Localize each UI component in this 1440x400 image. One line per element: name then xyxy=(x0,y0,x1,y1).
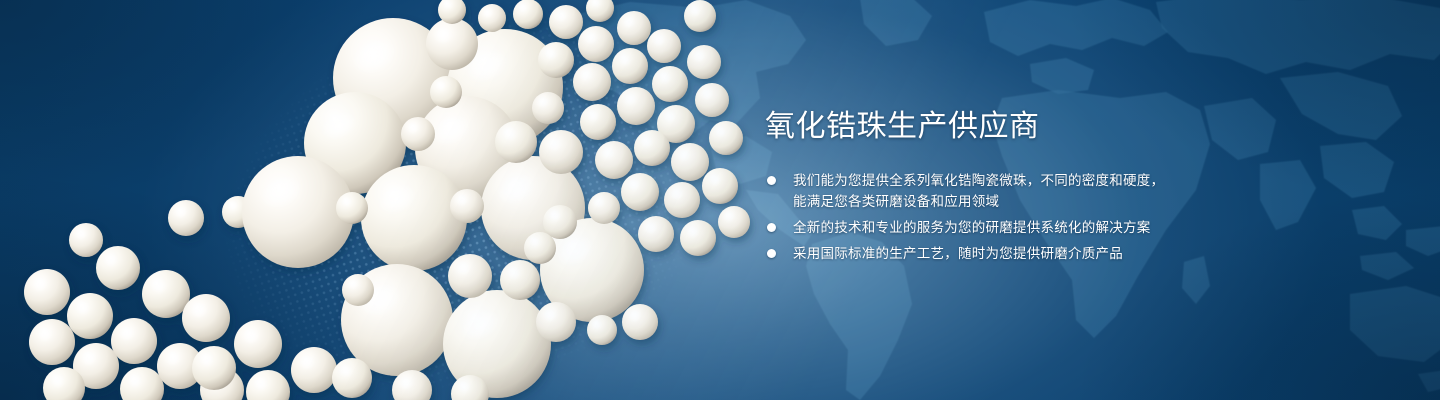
list-item: 我们能为您提供全系列氧化锆陶瓷微珠，不同的密度和硬度， 能满足您各类研磨设备和应… xyxy=(765,170,1325,212)
bullet-dot-icon xyxy=(767,223,776,232)
bullet-text-line1: 我们能为您提供全系列氧化锆陶瓷微珠，不同的密度和硬度， xyxy=(793,170,1325,191)
banner-copy: 氧化锆珠生产供应商 我们能为您提供全系列氧化锆陶瓷微珠，不同的密度和硬度， 能满… xyxy=(765,0,1325,400)
bullet-text-line1: 全新的技术和专业的服务为您的研磨提供系统化的解决方案 xyxy=(793,217,1325,238)
hero-banner: 氧化锆珠生产供应商 我们能为您提供全系列氧化锆陶瓷微珠，不同的密度和硬度， 能满… xyxy=(0,0,1440,400)
list-item: 采用国际标准的生产工艺，随时为您提供研磨介质产品 xyxy=(765,243,1325,264)
bullet-text-line1: 采用国际标准的生产工艺，随时为您提供研磨介质产品 xyxy=(793,243,1325,264)
zirconia-beads-product-image xyxy=(0,0,760,400)
list-item: 全新的技术和专业的服务为您的研磨提供系统化的解决方案 xyxy=(765,217,1325,238)
bullet-text-line2: 能满足您各类研磨设备和应用领域 xyxy=(793,191,1325,212)
bullet-dot-icon xyxy=(767,176,776,185)
feature-bullet-list: 我们能为您提供全系列氧化锆陶瓷微珠，不同的密度和硬度， 能满足您各类研磨设备和应… xyxy=(765,170,1325,269)
bullet-dot-icon xyxy=(767,249,776,258)
page-title: 氧化锆珠生产供应商 xyxy=(765,108,1040,146)
